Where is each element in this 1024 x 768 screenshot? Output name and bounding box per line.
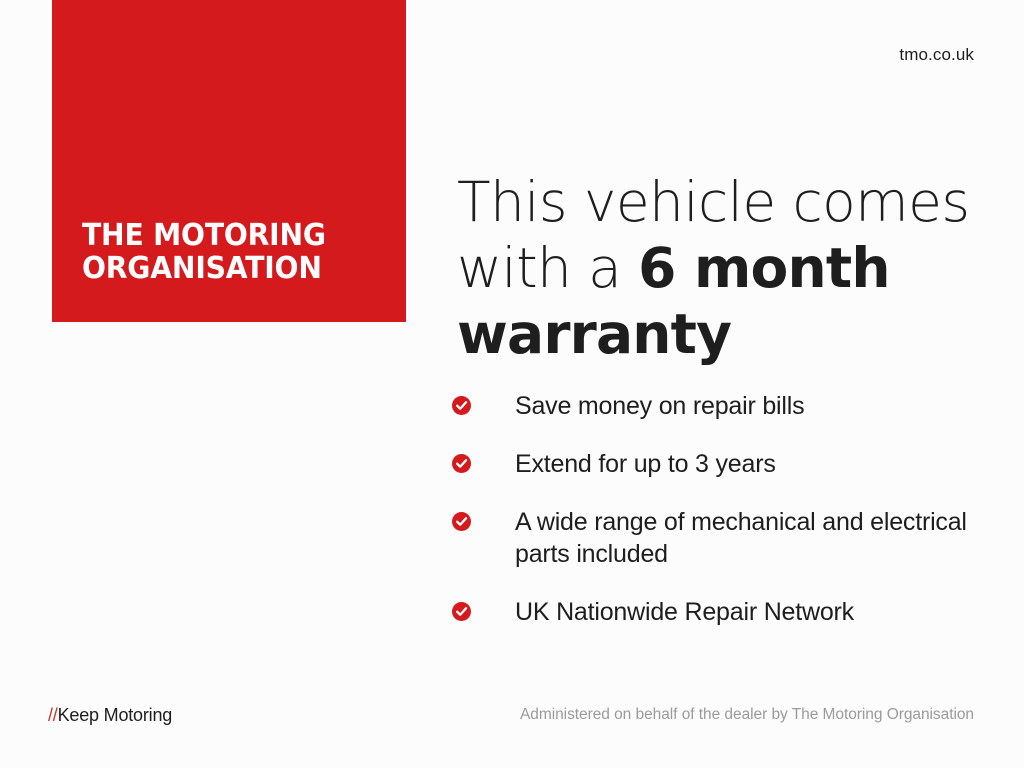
site-url: tmo.co.uk: [899, 46, 974, 63]
brand-wordmark: THE MOTORING ORGANISATION: [82, 219, 364, 286]
benefit-label: A wide range of mechanical and electrica…: [515, 506, 992, 570]
benefit-label: Save money on repair bills: [515, 390, 804, 422]
list-item: Save money on repair bills: [452, 390, 992, 422]
brand-wordmark-line-2: ORGANISATION: [82, 252, 364, 286]
check-circle-icon: [452, 602, 471, 621]
check-circle-icon: [452, 454, 471, 473]
warranty-banner: tmo.co.uk THE MOTORING ORGANISATION This…: [0, 0, 1024, 768]
benefits-list: Save money on repair bills Extend for up…: [452, 390, 992, 628]
brand-wordmark-line-1: THE MOTORING: [82, 218, 326, 253]
footer-disclaimer: Administered on behalf of the dealer by …: [520, 707, 974, 723]
benefit-label: UK Nationwide Repair Network: [515, 596, 854, 628]
list-item: UK Nationwide Repair Network: [452, 596, 992, 628]
slash-mark-icon: //: [48, 705, 58, 725]
list-item: Extend for up to 3 years: [452, 448, 992, 480]
benefit-label: Extend for up to 3 years: [515, 448, 776, 480]
check-circle-icon: [452, 512, 471, 531]
page-title: This vehicle comes with a 6 month warran…: [457, 169, 997, 367]
brand-logo-block: THE MOTORING ORGANISATION: [52, 0, 406, 322]
list-item: A wide range of mechanical and electrica…: [452, 506, 992, 570]
footer-tagline-label: Keep Motoring: [58, 705, 172, 725]
check-circle-icon: [452, 396, 471, 415]
footer-tagline: //Keep Motoring: [48, 706, 172, 724]
